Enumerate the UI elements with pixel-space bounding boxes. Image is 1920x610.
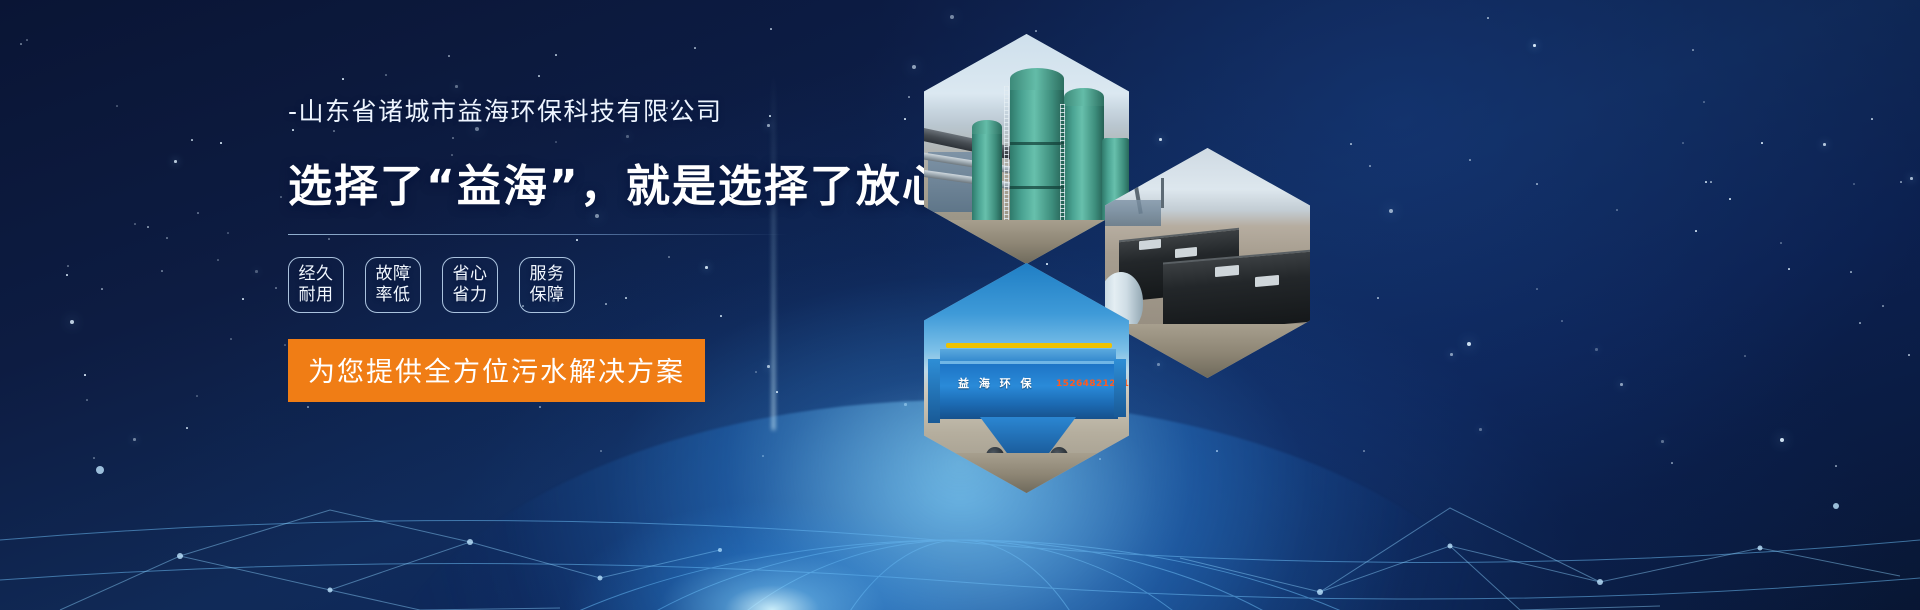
feature-badge-list: 经久 耐用 故障 率低 省心 省力 服务 保障 <box>288 257 828 313</box>
center-glow <box>562 500 982 610</box>
star-dot <box>186 427 188 429</box>
star-dot <box>84 374 86 376</box>
badge-line-2: 率低 <box>376 285 411 306</box>
star-dot <box>20 43 22 45</box>
badge-line-1: 服务 <box>530 264 565 285</box>
star-dot <box>217 259 219 261</box>
hero-headline: 选择了“益海”，就是选择了放心 <box>288 150 828 214</box>
star-dot <box>1450 353 1453 356</box>
access-ladder <box>1004 86 1009 230</box>
star-dot <box>1536 183 1538 185</box>
star-dot <box>1692 49 1694 51</box>
badge-line-1: 省心 <box>453 264 488 285</box>
star-dot <box>220 142 222 144</box>
star-dot <box>1479 428 1482 431</box>
badge-line-1: 故障 <box>376 264 411 285</box>
tower-band <box>1010 142 1064 145</box>
star-dot <box>600 450 602 452</box>
star-dot <box>1823 143 1826 146</box>
star-dot <box>539 406 541 408</box>
small-tower-cap <box>972 120 1002 134</box>
machine-side-panel <box>928 359 940 423</box>
star-dot <box>1744 355 1746 357</box>
star-dot <box>174 160 177 163</box>
star-dot <box>770 28 772 30</box>
feature-badge-easy[interactable]: 省心 省力 <box>442 257 498 313</box>
star-dot <box>1561 320 1563 322</box>
star-dot <box>1620 383 1623 386</box>
star-dot <box>1853 183 1855 185</box>
star-dot <box>166 237 168 239</box>
star-dot <box>1780 242 1782 244</box>
star-dot <box>1661 440 1664 443</box>
tank-hatch-3 <box>1215 265 1239 277</box>
headline-divider <box>288 234 788 235</box>
star-dot <box>762 455 764 457</box>
main-tower-cap <box>1010 68 1064 90</box>
star-dot <box>1536 288 1538 290</box>
star-dot <box>1377 297 1379 299</box>
star-dot <box>1159 138 1162 141</box>
hero-text-block: -山东省诸城市益海环保科技有限公司 选择了“益海”，就是选择了放心 经久 耐用 … <box>288 92 828 402</box>
star-dot <box>1350 143 1352 145</box>
star-dot <box>908 96 910 98</box>
star-dot <box>116 105 118 107</box>
star-dot <box>342 78 344 80</box>
secondary-tower <box>1064 100 1104 232</box>
star-dot <box>1908 354 1910 356</box>
star-dot <box>280 196 282 198</box>
buried-tanks-photo <box>1105 148 1310 378</box>
star-dot <box>242 298 244 300</box>
badge-line-2: 保障 <box>530 285 565 306</box>
machine-brand-text: 益 海 环 保 <box>958 375 1035 391</box>
star-dot <box>134 223 136 225</box>
star-dot <box>307 406 309 408</box>
star-dot <box>1900 181 1902 183</box>
badge-line-2: 省力 <box>453 285 488 306</box>
background-structure <box>1105 200 1161 226</box>
photo-hexagon-flotation-machine[interactable]: 益 海 环 保 15264821251 <box>924 263 1129 493</box>
star-dot <box>385 74 387 76</box>
star-dot <box>694 47 696 49</box>
star-dot <box>448 55 450 57</box>
star-dot <box>70 320 74 324</box>
star-dot <box>191 139 193 141</box>
star-dot <box>86 399 88 401</box>
star-dot <box>26 39 28 41</box>
star-dot <box>1729 198 1731 200</box>
star-dot <box>1157 363 1160 366</box>
feature-badge-service[interactable]: 服务 保障 <box>519 257 575 313</box>
star-dot <box>196 395 198 397</box>
feature-badge-durable[interactable]: 经久 耐用 <box>288 257 344 313</box>
star-dot <box>1616 209 1618 211</box>
badge-line-1: 经久 <box>299 264 334 285</box>
photo-hexagon-buried-tanks[interactable] <box>1105 148 1310 378</box>
star-dot <box>101 288 103 290</box>
star-dot <box>1835 465 1837 467</box>
star-dot <box>1389 209 1393 213</box>
star-dot <box>147 226 149 228</box>
star-dot <box>133 438 136 441</box>
star-dot <box>1046 263 1048 265</box>
star-dot <box>1710 181 1712 183</box>
yellow-rail <box>946 343 1112 348</box>
star-dot <box>1216 450 1218 452</box>
scrubber-towers-photo <box>924 34 1129 264</box>
crane-cable <box>1161 178 1164 208</box>
star-dot <box>904 118 906 120</box>
main-tower <box>1010 84 1064 232</box>
machine-side-panel-right <box>1114 359 1126 417</box>
tank-hatch-4 <box>1255 275 1279 287</box>
star-dot <box>227 232 229 234</box>
tower-band-2 <box>1010 186 1064 189</box>
star-dot <box>66 274 68 276</box>
star-dot <box>1487 17 1489 19</box>
ground-surface <box>924 220 1129 264</box>
ground-surface <box>924 453 1129 493</box>
star-dot <box>1910 177 1913 180</box>
star-dot <box>538 75 540 77</box>
small-tower <box>972 130 1002 226</box>
feature-badge-low-failure[interactable]: 故障 率低 <box>365 257 421 313</box>
star-dot <box>950 15 954 19</box>
star-dot <box>1099 458 1101 460</box>
cta-banner[interactable]: 为您提供全方位污水解决方案 <box>288 339 705 402</box>
star-dot <box>255 270 258 273</box>
star-dot <box>1705 181 1707 183</box>
star-dot <box>555 54 557 56</box>
star-dot <box>1469 159 1471 161</box>
flotation-machine-photo: 益 海 环 保 15264821251 <box>924 263 1129 493</box>
crane-boom <box>1122 160 1172 179</box>
star-dot <box>912 65 916 69</box>
star-dot <box>197 212 199 214</box>
star-dot <box>93 457 95 459</box>
star-dot <box>1682 142 1684 144</box>
star-dot <box>1695 230 1697 232</box>
star-dot <box>1871 118 1873 120</box>
star-dot <box>1533 44 1536 47</box>
star-dot <box>904 403 907 406</box>
star-dot <box>161 270 163 272</box>
hero-banner: -山东省诸城市益海环保科技有限公司 选择了“益海”，就是选择了放心 经久 耐用 … <box>0 0 1920 610</box>
star-dot <box>1780 438 1784 442</box>
star-dot <box>1595 348 1598 351</box>
star-dot <box>1035 30 1037 32</box>
star-dot <box>1859 322 1861 324</box>
access-ladder-2 <box>1060 104 1065 230</box>
star-dot <box>455 85 458 88</box>
star-dot <box>1703 101 1705 103</box>
star-dot <box>1761 142 1763 144</box>
star-dot <box>1788 268 1790 270</box>
star-dot <box>1467 342 1471 346</box>
star-dot <box>1850 271 1852 273</box>
star-dot <box>284 344 286 346</box>
star-dot <box>1882 305 1884 307</box>
badge-line-2: 耐用 <box>299 285 334 306</box>
star-dot <box>230 338 232 340</box>
company-subtitle: -山东省诸城市益海环保科技有限公司 <box>288 92 828 128</box>
star-dot <box>1363 450 1365 452</box>
star-dot <box>1369 165 1371 167</box>
black-tank-front <box>1163 249 1310 334</box>
star-dot <box>1671 462 1673 464</box>
star-dot <box>275 287 277 289</box>
ground-surface <box>1105 324 1310 378</box>
photo-hexagon-scrubber-towers[interactable] <box>924 34 1129 264</box>
star-dot <box>67 265 69 267</box>
secondary-tower-cap <box>1064 88 1104 106</box>
